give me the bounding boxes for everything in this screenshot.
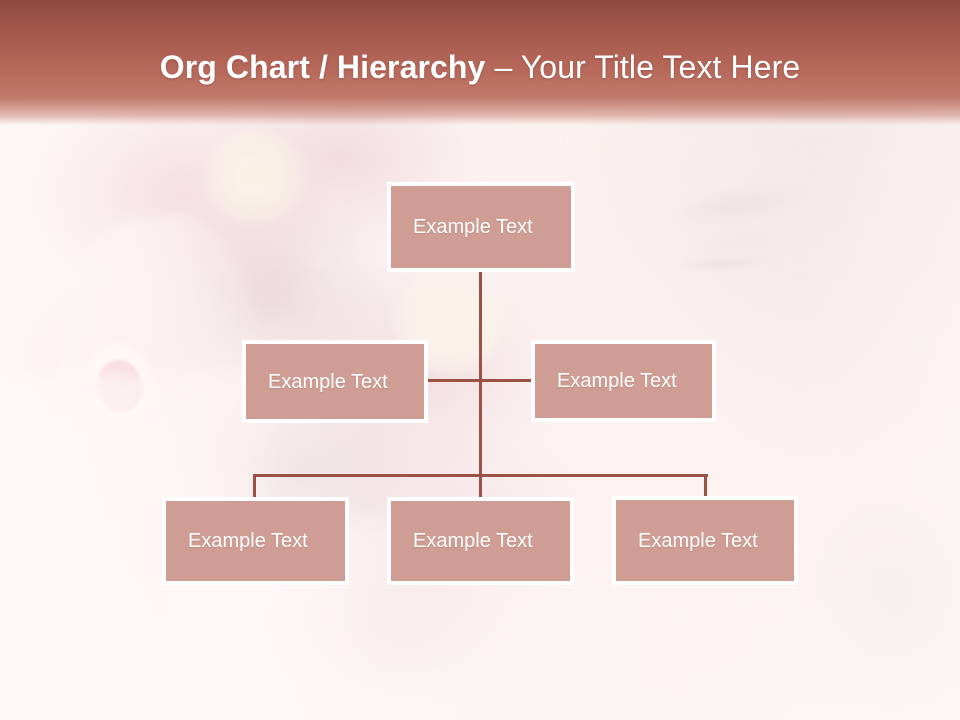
- org-node-label: Example Text: [391, 215, 533, 239]
- org-node-level2-left[interactable]: Example Text: [242, 340, 428, 423]
- org-node-label: Example Text: [391, 529, 533, 553]
- org-chart: Example Text Example Text Example Text E…: [0, 0, 960, 720]
- connector-bus-to-right-leaf: [704, 474, 707, 498]
- org-node-label: Example Text: [246, 370, 388, 394]
- connector-to-right-branch: [479, 379, 533, 382]
- org-node-level3-left[interactable]: Example Text: [162, 497, 349, 585]
- connector-root-trunk: [479, 272, 482, 497]
- slide: Org Chart / Hierarchy – Your Title Text …: [0, 0, 960, 720]
- org-node-level3-right[interactable]: Example Text: [612, 496, 798, 585]
- connector-bus-to-left-leaf: [253, 474, 256, 499]
- org-node-root[interactable]: Example Text: [387, 182, 575, 272]
- connector-to-left-branch: [428, 379, 481, 382]
- connector-bottom-bus: [255, 474, 708, 477]
- org-node-level3-middle[interactable]: Example Text: [387, 497, 574, 585]
- org-node-level2-right[interactable]: Example Text: [531, 340, 716, 422]
- org-node-label: Example Text: [166, 529, 308, 553]
- org-node-label: Example Text: [535, 369, 677, 393]
- org-node-label: Example Text: [616, 529, 758, 553]
